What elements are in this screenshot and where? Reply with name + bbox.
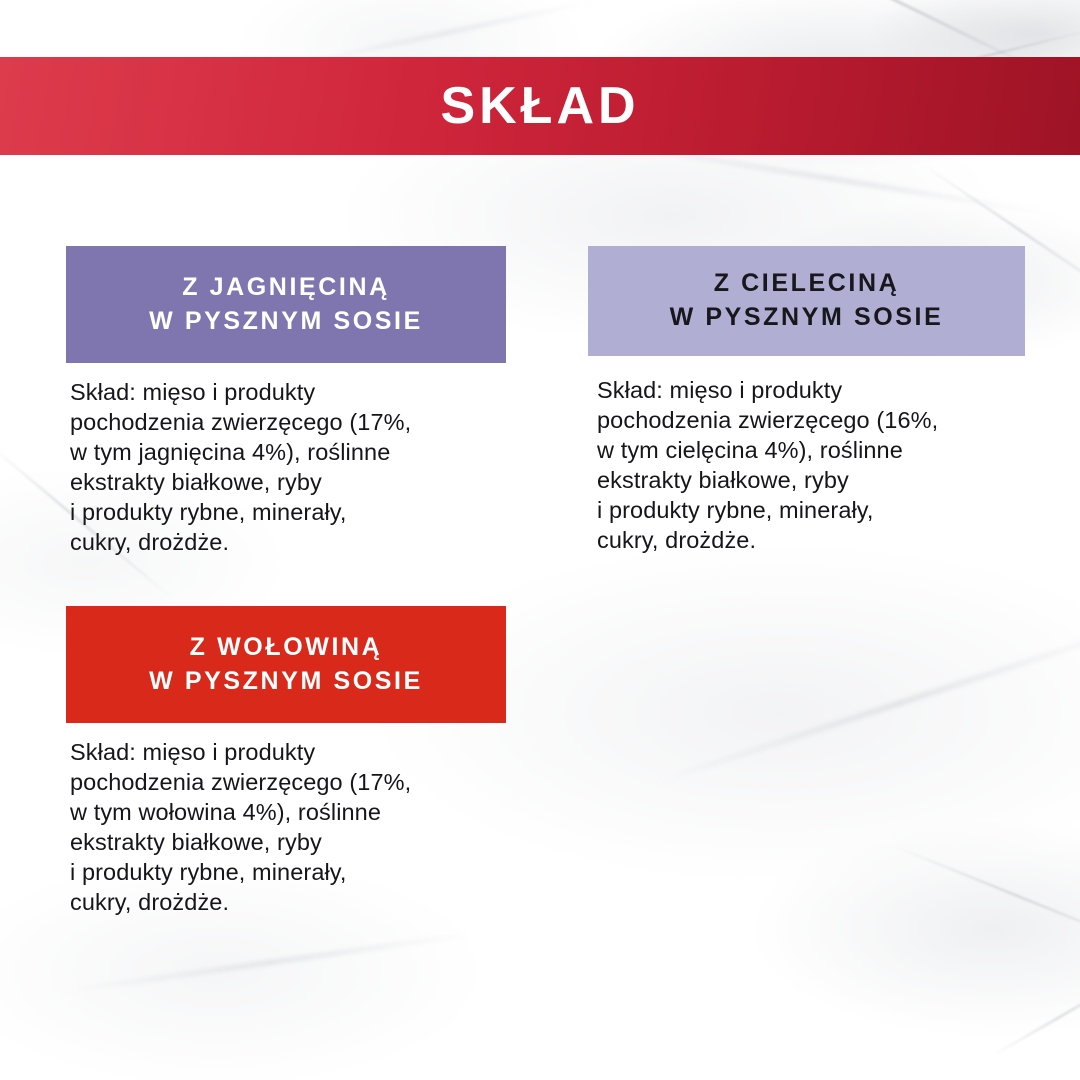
marble-vein [652, 620, 1080, 786]
marble-vein [303, 0, 597, 65]
product-header-beef: Z WOŁOWINĄ W PYSZNYM SOSIE [66, 606, 506, 723]
product-card-beef: Z WOŁOWINĄ W PYSZNYM SOSIE Skład: mięso … [66, 606, 506, 917]
marble-vein [62, 931, 479, 994]
section-banner: SKŁAD [0, 57, 1080, 155]
product-subtitle-lamb: W PYSZNYM SOSIE [149, 305, 423, 339]
marble-vein [992, 965, 1080, 1057]
marble-vein [891, 844, 1080, 958]
ingredients-text-veal: Skład: mięso i produkty pochodzenia zwie… [588, 375, 1025, 555]
product-header-veal: Z CIELECINĄ W PYSZNYM SOSIE [588, 246, 1025, 356]
product-name-beef: Z WOŁOWINĄ [190, 631, 383, 665]
ingredients-text-lamb: Skład: mięso i produkty pochodzenia zwie… [66, 377, 506, 557]
composition-infographic: SKŁAD Z JAGNIĘCINĄ W PYSZNYM SOSIE Skład… [0, 0, 1080, 1080]
product-name-veal: Z CIELECINĄ [714, 267, 900, 301]
ingredients-text-beef: Skład: mięso i produkty pochodzenia zwie… [66, 737, 506, 917]
product-card-lamb: Z JAGNIĘCINĄ W PYSZNYM SOSIE Skład: mięs… [66, 246, 506, 557]
product-name-lamb: Z JAGNIĘCINĄ [182, 271, 390, 305]
product-header-lamb: Z JAGNIĘCINĄ W PYSZNYM SOSIE [66, 246, 506, 363]
page-title: SKŁAD [440, 80, 639, 132]
product-subtitle-beef: W PYSZNYM SOSIE [149, 665, 423, 699]
product-card-veal: Z CIELECINĄ W PYSZNYM SOSIE Skład: mięso… [588, 246, 1025, 555]
product-subtitle-veal: W PYSZNYM SOSIE [670, 301, 944, 335]
